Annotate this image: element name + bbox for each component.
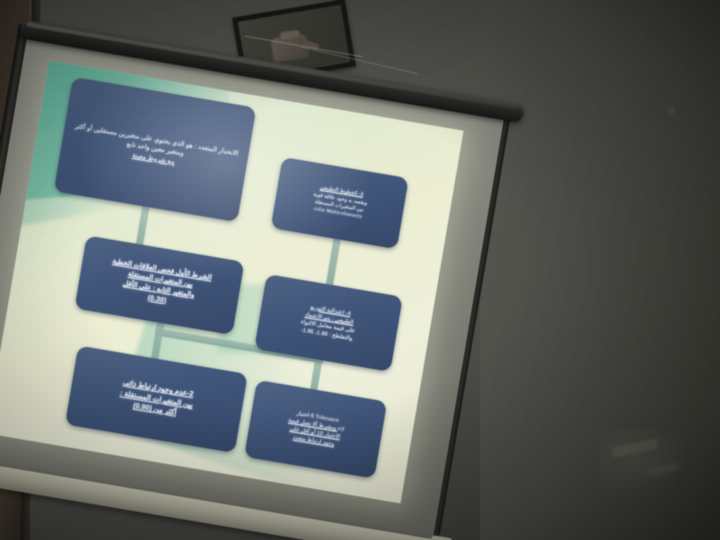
wall-dot [668, 106, 675, 115]
photo-canvas: الانحدار المتعدد : هو الذي يحتوي على متغ… [0, 0, 720, 540]
projected-slide: الانحدار المتعدد : هو الذي يحتوي على متغ… [0, 61, 463, 504]
condition-4-text: 4- اعتدالية التوزيع الطبيعي : يتم الاعتم… [292, 297, 365, 348]
condition-5-text: Tolerance 5-اختبار vif وبشرط ألا تصل قيم… [278, 404, 352, 455]
condition-2-text: 2-عدم وجود ارتباط ذاتي بين المتغيرات الم… [111, 373, 202, 426]
projector-screen-unit: الانحدار المتعدد : هو الذي يحتوي على متغ… [0, 6, 546, 540]
